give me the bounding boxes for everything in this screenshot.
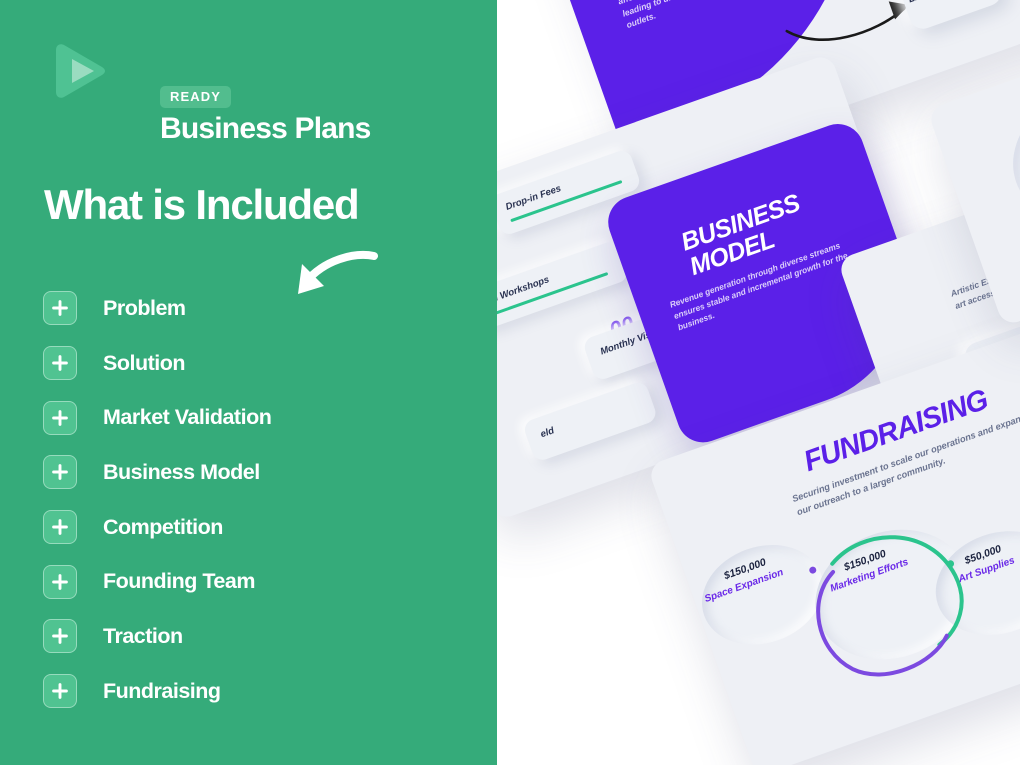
list-item[interactable]: Competition bbox=[43, 500, 463, 555]
list-item-label: Market Validation bbox=[103, 405, 271, 430]
list-item-label: Competition bbox=[103, 515, 223, 540]
plus-icon[interactable] bbox=[43, 401, 77, 435]
plus-icon[interactable] bbox=[43, 291, 77, 325]
accessible-spaces-line2: Spa bbox=[957, 95, 1020, 208]
list-item[interactable]: Market Validation bbox=[43, 390, 463, 445]
plus-icon[interactable] bbox=[43, 510, 77, 544]
plus-icon[interactable] bbox=[43, 619, 77, 653]
decorative-circle bbox=[993, 56, 1020, 248]
problem-card-2-label: Limited Resources bbox=[902, 0, 996, 8]
plus-icon[interactable] bbox=[43, 674, 77, 708]
list-item-label: Problem bbox=[103, 296, 186, 321]
play-triangle-icon bbox=[48, 40, 110, 102]
page-title: What is Included bbox=[44, 184, 358, 226]
list-item[interactable]: Fundraising bbox=[43, 664, 463, 719]
slide-showcase-panel: THE PROBLEM Many individuals and communi… bbox=[497, 0, 1020, 765]
list-item-label: Business Model bbox=[103, 460, 260, 485]
list-item[interactable]: Founding Team bbox=[43, 554, 463, 609]
list-item-label: Fundraising bbox=[103, 679, 221, 704]
plus-icon[interactable] bbox=[43, 455, 77, 489]
list-item[interactable]: Problem bbox=[43, 281, 463, 336]
slide-stage: THE PROBLEM Many individuals and communi… bbox=[497, 0, 1020, 765]
plus-icon[interactable] bbox=[43, 346, 77, 380]
list-item-label: Founding Team bbox=[103, 569, 255, 594]
plus-icon[interactable] bbox=[43, 565, 77, 599]
brand-title: Business Plans bbox=[160, 112, 371, 145]
presentation-preview-screen: READY Business Plans What is Included Pr… bbox=[0, 0, 1020, 765]
ready-badge: READY bbox=[160, 86, 231, 108]
left-green-panel: READY Business Plans What is Included Pr… bbox=[0, 0, 497, 765]
list-item-label: Traction bbox=[103, 624, 183, 649]
brand-block: READY Business Plans bbox=[48, 36, 378, 114]
list-item-label: Solution bbox=[103, 351, 185, 376]
list-item[interactable]: Solution bbox=[43, 336, 463, 391]
traction-bar-label-0: Drop-in Fees bbox=[504, 183, 562, 213]
list-item[interactable]: Business Model bbox=[43, 445, 463, 500]
included-features-list: Problem Solution Market Validation Busin… bbox=[43, 281, 463, 719]
list-item[interactable]: Traction bbox=[43, 609, 463, 664]
traction-bar-label-3: eld bbox=[539, 425, 556, 440]
